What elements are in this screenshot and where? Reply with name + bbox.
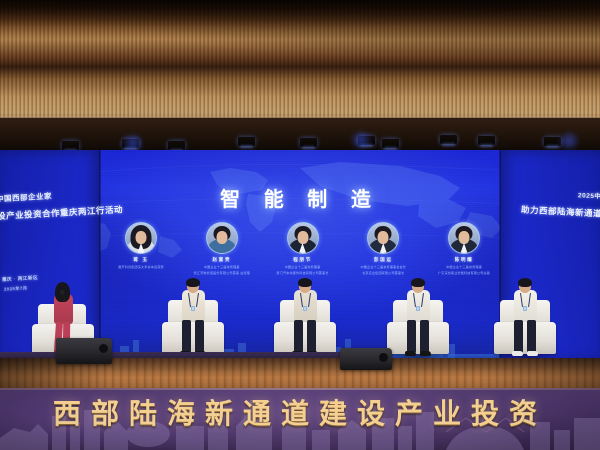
blue-wash-glow [556, 132, 582, 150]
panelist-leg [514, 320, 523, 353]
stage-light-icon [440, 135, 457, 144]
lighting-truss [0, 118, 600, 152]
speaker-card: 赵富贵 中国企业十三届常务理事 浙江芳琳智造股份有限公司董事 总经理 [186, 222, 258, 276]
speaker-org-line1: 中国企业十三届常务理事 [267, 265, 339, 269]
panelist-leg [182, 320, 191, 353]
speaker-card: 陈明耀 中国企业十三届常务理事 广东深创职业智能科技有限公司总裁 [428, 222, 500, 276]
panelist-shoe [527, 351, 538, 356]
speaker-portrait-icon [125, 222, 157, 254]
panelist-leg [407, 320, 416, 353]
panelist-hair [186, 278, 200, 287]
panelist-leg [294, 320, 303, 353]
panelist [272, 278, 342, 362]
stage-light-icon [168, 141, 185, 150]
panelist-leg [307, 320, 316, 353]
speaker-name: 程朋节 [267, 257, 339, 263]
speaker-portrait-icon [287, 222, 319, 254]
speaker-portrait-icon [367, 222, 399, 254]
conference-stage-scene: 中国西部企业家 建设产业投资合作重庆两江行活动 重庆 · 两江新区 2025年7… [0, 0, 600, 450]
stage-light-icon [478, 136, 495, 145]
panelist-hair [518, 278, 532, 287]
speaker-org-line1: 中国企业十三届常务理事会会长 [347, 265, 419, 269]
panelist-leg [195, 320, 204, 353]
stage-light-icon [62, 141, 79, 150]
name-badge [523, 306, 527, 311]
speaker-name: 陈明耀 [428, 257, 500, 263]
speaker-org-line1: 中国企业十三届常务理事 [428, 265, 500, 269]
stage-monitor-wedge [340, 348, 392, 370]
banner-headline: 西部陆海新通道建设产业投资 [0, 392, 600, 432]
speaker-org-line2: 厦门汽车零部件科技有限公司董事长 [267, 271, 339, 275]
speaker-name: 蒋 玉 [105, 257, 177, 263]
panelist [160, 278, 230, 362]
speaker-org-line2: 广东深创职业智能科技有限公司总裁 [428, 271, 500, 275]
name-badge [191, 306, 195, 311]
speaker-card: 彭国运 中国企业十三届常务理事会会长 北京实业集团有限公司董事长 [347, 222, 419, 276]
panelist [385, 278, 455, 362]
panelist-shoe [512, 351, 523, 356]
name-badge [303, 306, 307, 311]
armchair-seat [274, 322, 336, 354]
speaker-panel-row: 蒋 玉 国开科德集团深大学资本运营部 赵富贵 中国企业十三届常务理事 浙江芳琳智… [105, 222, 500, 284]
speaker-name: 彭国运 [347, 257, 419, 263]
stage-monitor-wedge [56, 338, 112, 364]
speaker-card: 蒋 玉 国开科德集团深大学资本运营部 [105, 222, 177, 271]
banner-top-highlight [0, 388, 600, 390]
blue-wash-glow [348, 131, 374, 149]
stage-light-icon [238, 137, 255, 146]
panelist [492, 278, 562, 362]
speaker-portrait-icon [206, 222, 238, 254]
stage-light-icon [300, 138, 317, 147]
armchair-seat [387, 322, 449, 354]
panelist-shoe [405, 351, 416, 356]
speaker-org-line2: 浙江芳琳智造股份有限公司董事 总经理 [186, 271, 258, 275]
panelist-shoe [420, 351, 431, 356]
panelist-hair [298, 278, 312, 287]
panelist-leg [527, 320, 536, 353]
speaker-org-line1: 中国企业十三届常务理事 [186, 265, 258, 269]
armchair-seat [162, 322, 224, 354]
panelist-hair [411, 278, 425, 287]
speaker-org-line2: 北京实业集团有限公司董事长 [347, 271, 419, 275]
name-badge [416, 306, 420, 311]
panelist-leg [420, 320, 429, 353]
speaker-card: 程朋节 中国企业十三届常务理事 厦门汽车零部件科技有限公司董事长 [267, 222, 339, 276]
speaker-name: 赵富贵 [186, 257, 258, 263]
led-main-title: 智 能 制 造 [0, 183, 600, 212]
stage-light-icon [382, 139, 399, 148]
speaker-portrait-icon [448, 222, 480, 254]
speaker-org-line1: 国开科德集团深大学资本运营部 [105, 265, 177, 269]
armchair-seat [494, 322, 556, 354]
